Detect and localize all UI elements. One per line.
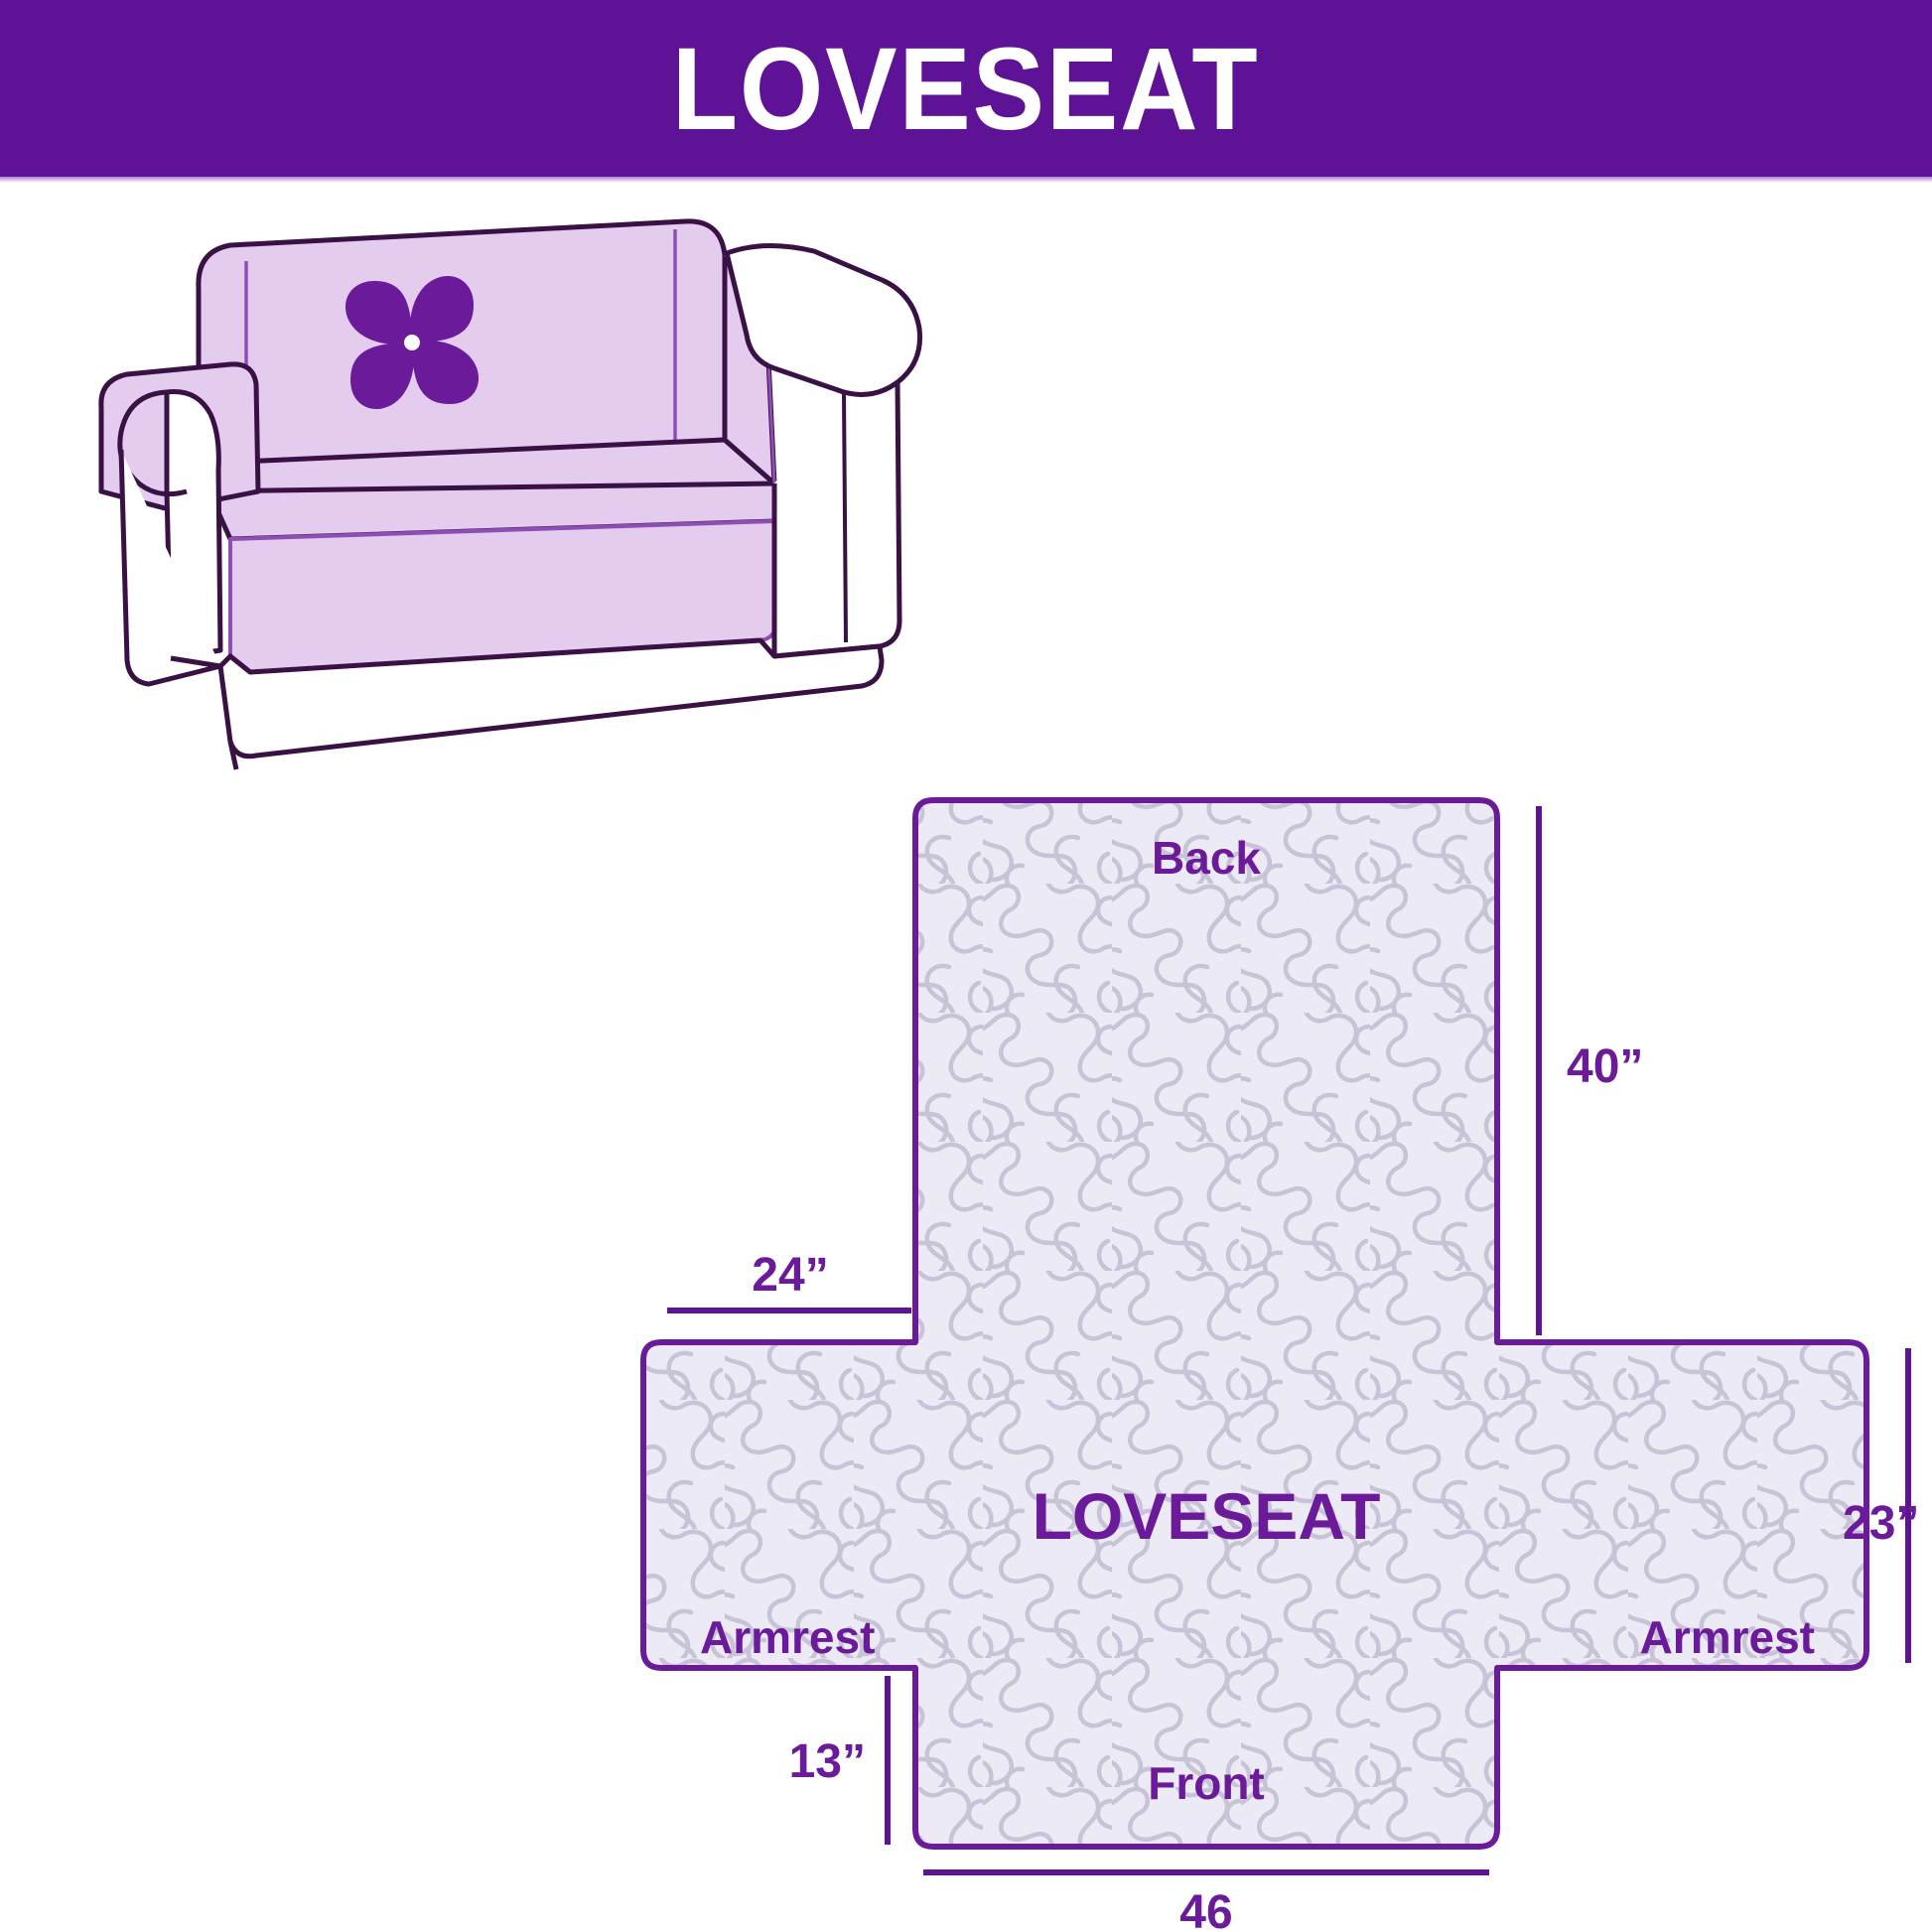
dimension-value-40: 40” <box>1567 1040 1643 1093</box>
dimension-front-width: 46 <box>923 1872 1489 1932</box>
panel-label-armrest-right: Armrest <box>1640 1611 1815 1663</box>
sofa-backrest <box>199 221 725 464</box>
cover-pattern-diagram: Back LOVESEAT Armrest Armrest Front 40” … <box>596 755 1932 1932</box>
dimension-back-width: 24” <box>667 1249 911 1311</box>
panel-label-back: Back <box>1152 832 1261 884</box>
panel-label-front: Front <box>1148 1757 1265 1809</box>
dimension-back-height: 40” <box>1539 806 1643 1335</box>
dimension-value-23: 23” <box>1843 1497 1919 1550</box>
header-divider <box>0 177 1932 183</box>
panel-label-armrest-left: Armrest <box>700 1611 875 1663</box>
loveseat-illustration <box>79 194 953 829</box>
dimension-value-24: 24” <box>752 1249 828 1302</box>
product-dimension-infographic: LOVESEAT <box>0 0 1932 1932</box>
cover-cross-shape <box>643 800 1866 1847</box>
header-banner: LOVESEAT <box>0 0 1932 179</box>
dimension-value-13: 13” <box>789 1735 866 1788</box>
page-title: LOVESEAT <box>672 31 1260 148</box>
dimension-front-height: 13” <box>789 1676 888 1845</box>
dimension-value-46: 46 <box>1179 1886 1232 1932</box>
center-label-loveseat: LOVESEAT <box>1033 1479 1381 1553</box>
